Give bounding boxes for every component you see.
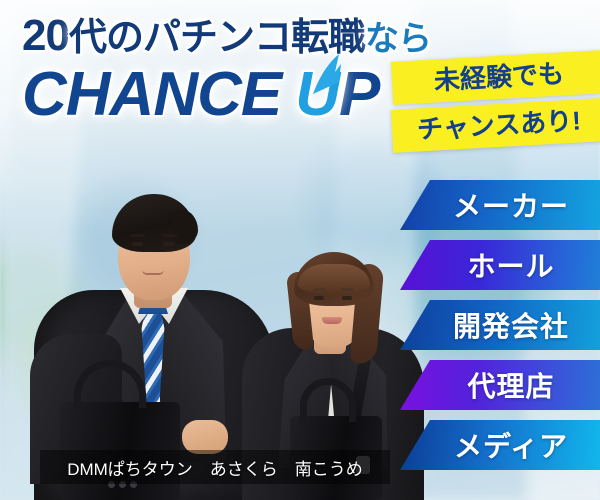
category-list: メーカー ホール 開発会社 代理店 メディア bbox=[400, 180, 600, 470]
headline-number: 20 bbox=[22, 11, 69, 60]
category-agency[interactable]: 代理店 bbox=[400, 360, 600, 410]
category-hall-label: ホール bbox=[467, 245, 554, 285]
headline: 20代のパチンコ転職なら CHANCEUP bbox=[22, 14, 431, 126]
category-development-company-label: 開発会社 bbox=[453, 305, 569, 345]
headline-up: UP bbox=[295, 64, 379, 126]
headline-line-1-main: 代のパチンコ転職 bbox=[69, 17, 365, 59]
caption-bar: DMMぱちタウン あさくら 南こうめ bbox=[40, 450, 390, 484]
headline-up-p: P bbox=[339, 60, 379, 129]
headline-chance: CHANCE bbox=[22, 60, 281, 129]
category-development-company[interactable]: 開発会社 bbox=[400, 300, 600, 350]
caption-text: DMMぱちタウン あさくら 南こうめ bbox=[67, 455, 363, 480]
badge-no-experience: 未経験でも bbox=[391, 50, 600, 105]
headline-line-2: CHANCEUP bbox=[22, 64, 431, 126]
category-maker[interactable]: メーカー bbox=[400, 180, 600, 230]
headline-up-u: U bbox=[295, 60, 339, 129]
badge-chance-available: チャンスあり! bbox=[391, 98, 600, 153]
highlight-badges: 未経験でも チャンスあり! bbox=[392, 56, 600, 147]
category-media[interactable]: メディア bbox=[400, 420, 600, 470]
category-media-label: メディア bbox=[454, 425, 568, 465]
recruit-banner[interactable]: 20代のパチンコ転職なら CHANCEUP 未経験でも チャンスあり! メーカー… bbox=[0, 0, 600, 500]
category-agency-label: 代理店 bbox=[467, 365, 554, 405]
headline-line-1-suffix: なら bbox=[365, 20, 431, 58]
category-hall[interactable]: ホール bbox=[400, 240, 600, 290]
category-maker-label: メーカー bbox=[453, 185, 569, 225]
headline-line-1: 20代のパチンコ転職なら bbox=[22, 14, 431, 58]
people-photo bbox=[0, 130, 420, 500]
